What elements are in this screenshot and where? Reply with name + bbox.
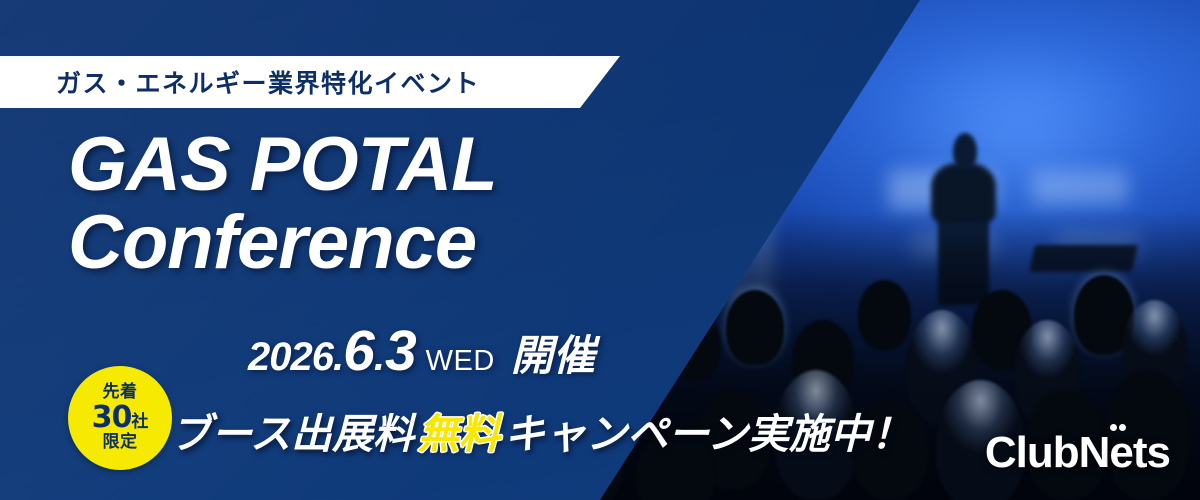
logo-part-1: ClubN (985, 428, 1110, 478)
badge-count-number: 30 (92, 402, 132, 434)
badge-count-unit: 社 (131, 414, 148, 432)
date-day: 3 (385, 318, 416, 384)
logo-e-with-dots: e (1109, 428, 1132, 478)
ribbon-label: ガス・エネルギー業界特化イベント (56, 64, 480, 100)
logo-diaeresis-icon (1110, 424, 1132, 432)
badge-bottom-label: 限定 (103, 434, 138, 452)
date-suffix: 開催 (511, 322, 595, 383)
logo-part-2: e (1109, 428, 1132, 477)
campaign-highlight: 無料 (418, 400, 500, 460)
screen-caption-block (1032, 170, 1128, 205)
logo-part-3: ts (1133, 428, 1170, 478)
campaign-text-part2: キャンペーン実施中！ (504, 400, 912, 460)
date-month: 6 (343, 318, 374, 384)
date-year: 2026. (248, 335, 343, 380)
date-day-of-week: WED (426, 345, 495, 378)
limited-offer-badge: 先着 30 社 限定 (68, 366, 172, 470)
speaker-head-silhouette (953, 133, 977, 170)
headline-line-2: Conference (68, 206, 497, 280)
badge-count-row: 30 社 (92, 402, 149, 434)
campaign-text-part1: ブース出展料 (170, 400, 414, 460)
audience-head (858, 280, 911, 350)
headline-line-1: GAS POTAL (68, 128, 497, 202)
clubnets-logo: ClubN e ts (985, 428, 1170, 478)
event-banner: ガス・エネルギー業界特化イベント GAS POTAL Conference 20… (0, 0, 1200, 500)
audience-head (726, 290, 784, 365)
campaign-line: ブース出展料 無料 キャンペーン実施中！ (170, 400, 912, 460)
headline-block: GAS POTAL Conference (68, 128, 497, 281)
date-separator: . (374, 335, 385, 380)
event-category-ribbon: ガス・エネルギー業界特化イベント (0, 56, 620, 108)
event-date-row: 2026. 6 . 3 WED 開催 (248, 318, 595, 384)
